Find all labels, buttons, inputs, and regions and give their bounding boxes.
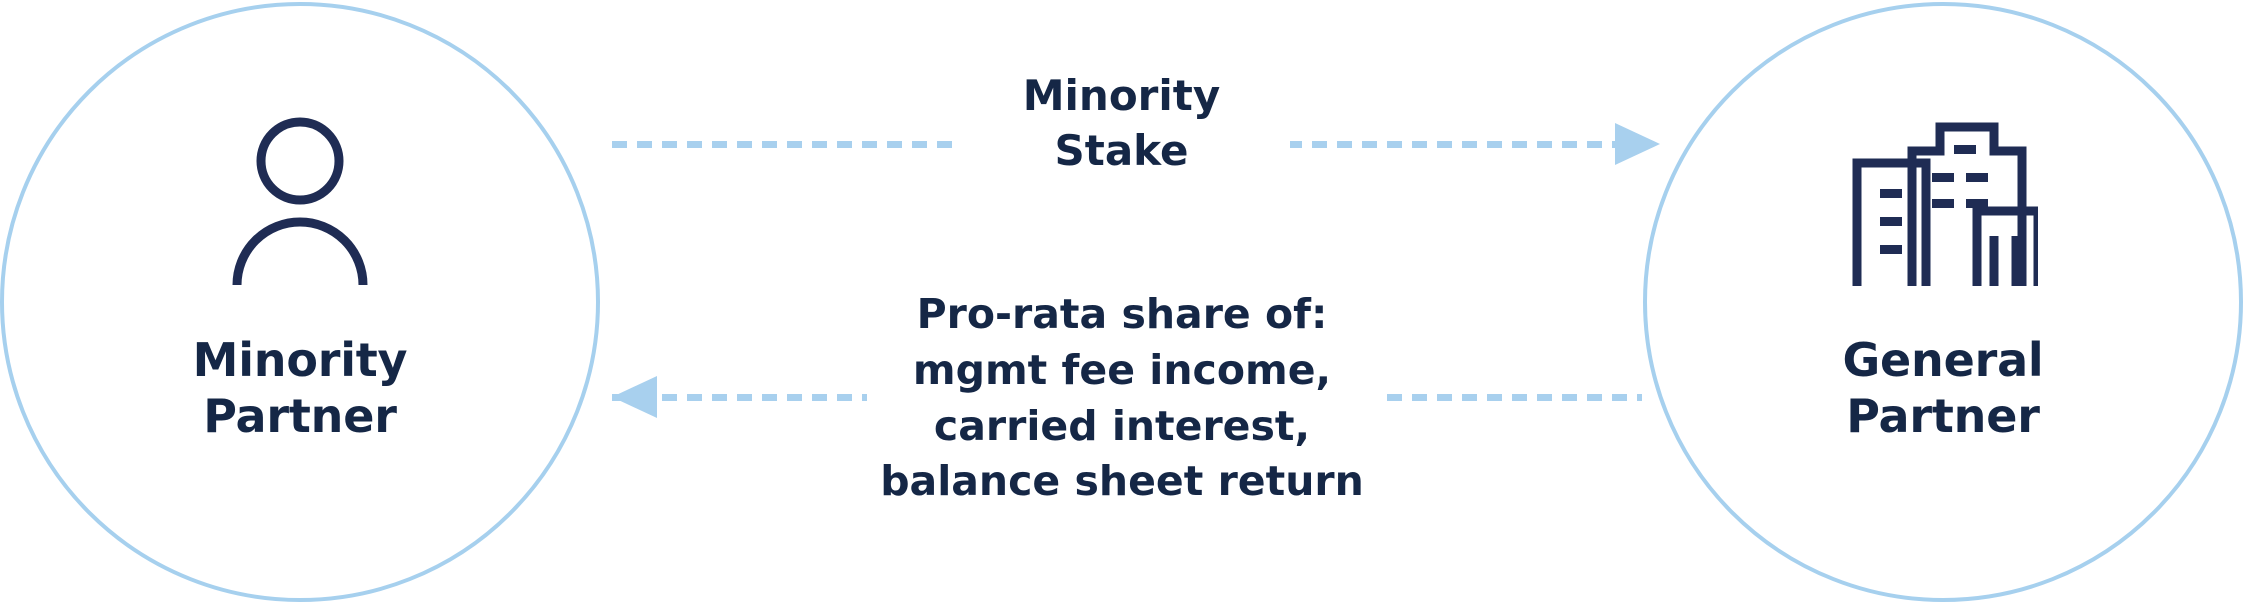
office-buildings-icon: [1848, 110, 2038, 294]
edge-pro-rata-share-label: Pro-rata share of: mgmt fee income, carr…: [867, 272, 1377, 525]
arrow-right-icon: [1615, 123, 1660, 165]
edge-minority-stake-label: Minority Stake: [953, 38, 1290, 208]
node-minority-partner[interactable]: Minority Partner: [0, 2, 600, 602]
node-minority-partner-label: Minority Partner: [193, 332, 408, 444]
node-general-partner-label: General Partner: [1843, 332, 2044, 444]
node-general-partner[interactable]: General Partner: [1643, 2, 2243, 602]
diagram-canvas: Minority Partner: [0, 0, 2245, 609]
person-icon: [225, 110, 375, 294]
arrow-left-icon: [612, 376, 657, 418]
